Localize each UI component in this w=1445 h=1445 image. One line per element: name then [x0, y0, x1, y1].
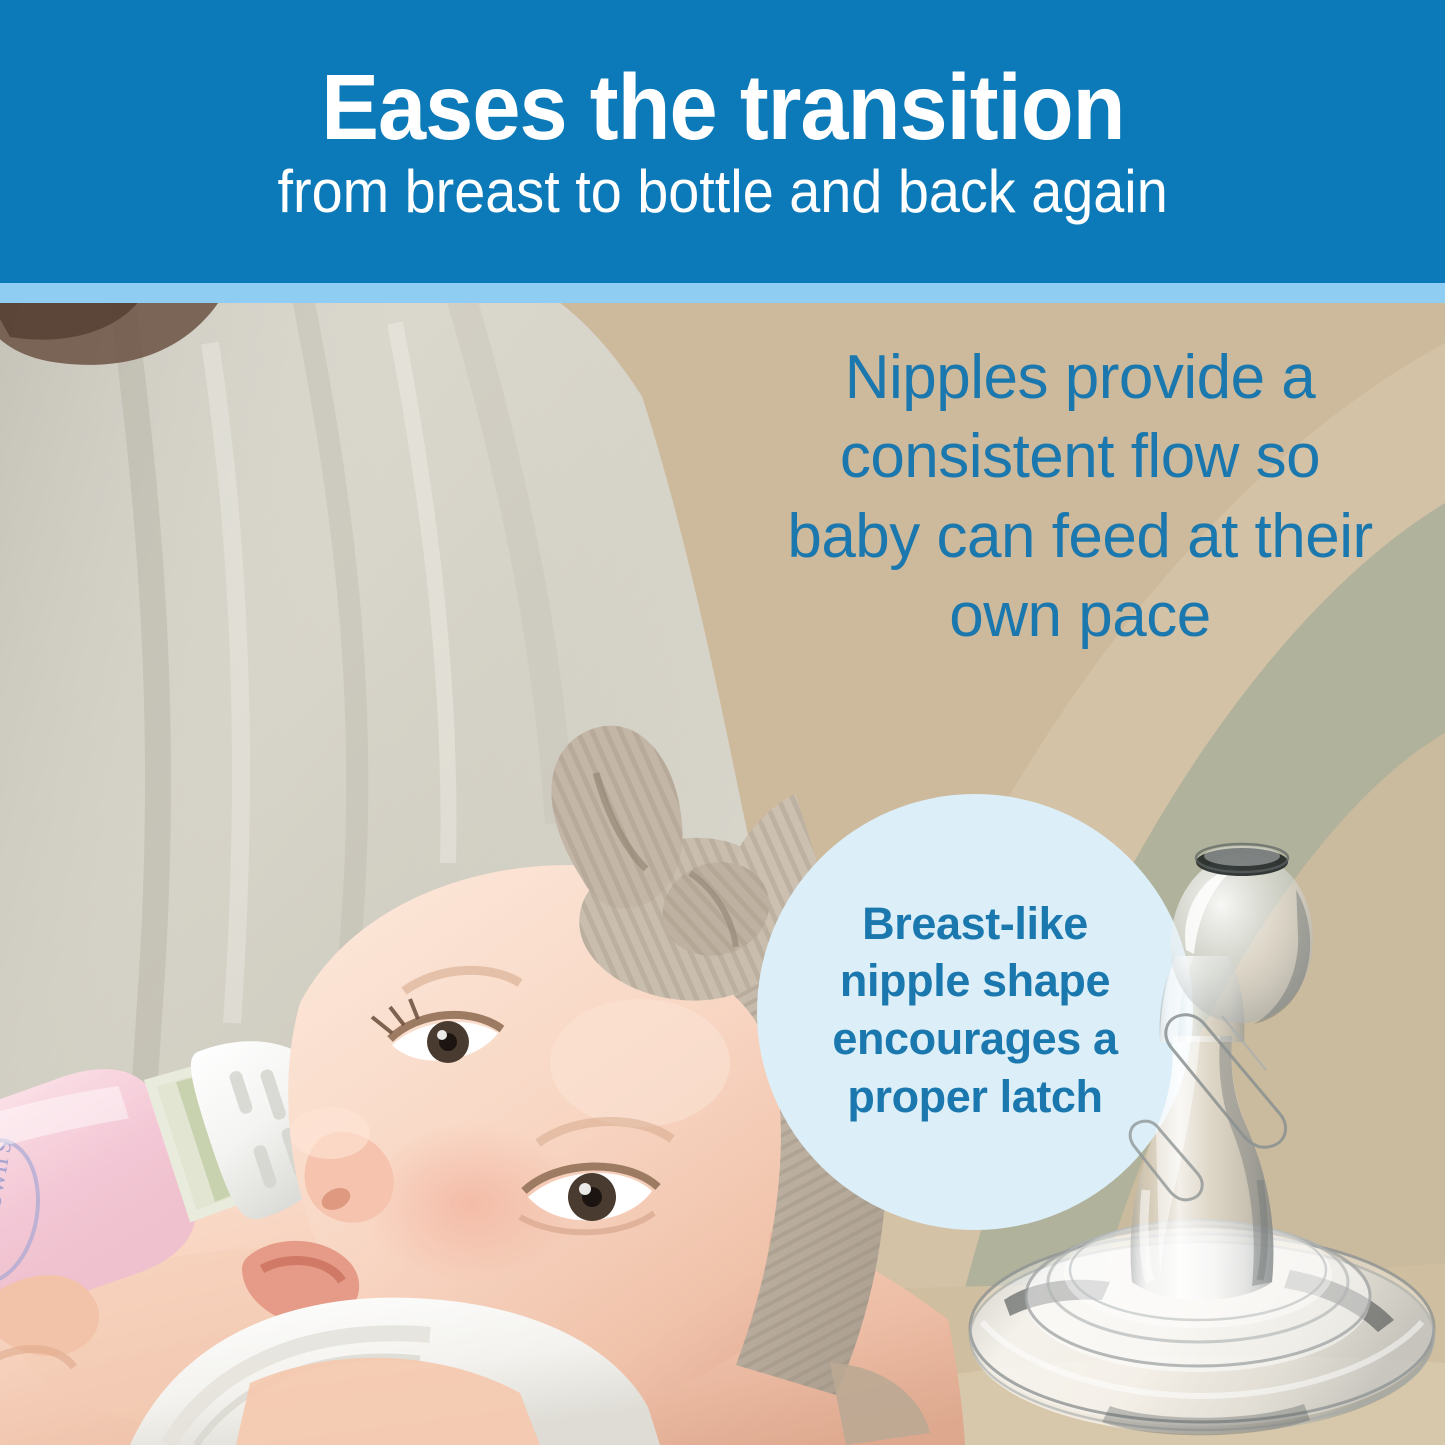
header-banner: Eases the transition from breast to bott… [0, 0, 1445, 283]
header-subtitle: from breast to bottle and back again [277, 160, 1167, 223]
header-accent-stripe [0, 283, 1445, 303]
product-feature-graphic: Dr. Brown's [0, 0, 1445, 1445]
feature-body-copy: Nipples provide a consistent flow so bab… [770, 338, 1390, 655]
header-title: Eases the transition [321, 61, 1124, 154]
silicone-nipple-product-image [960, 830, 1445, 1445]
